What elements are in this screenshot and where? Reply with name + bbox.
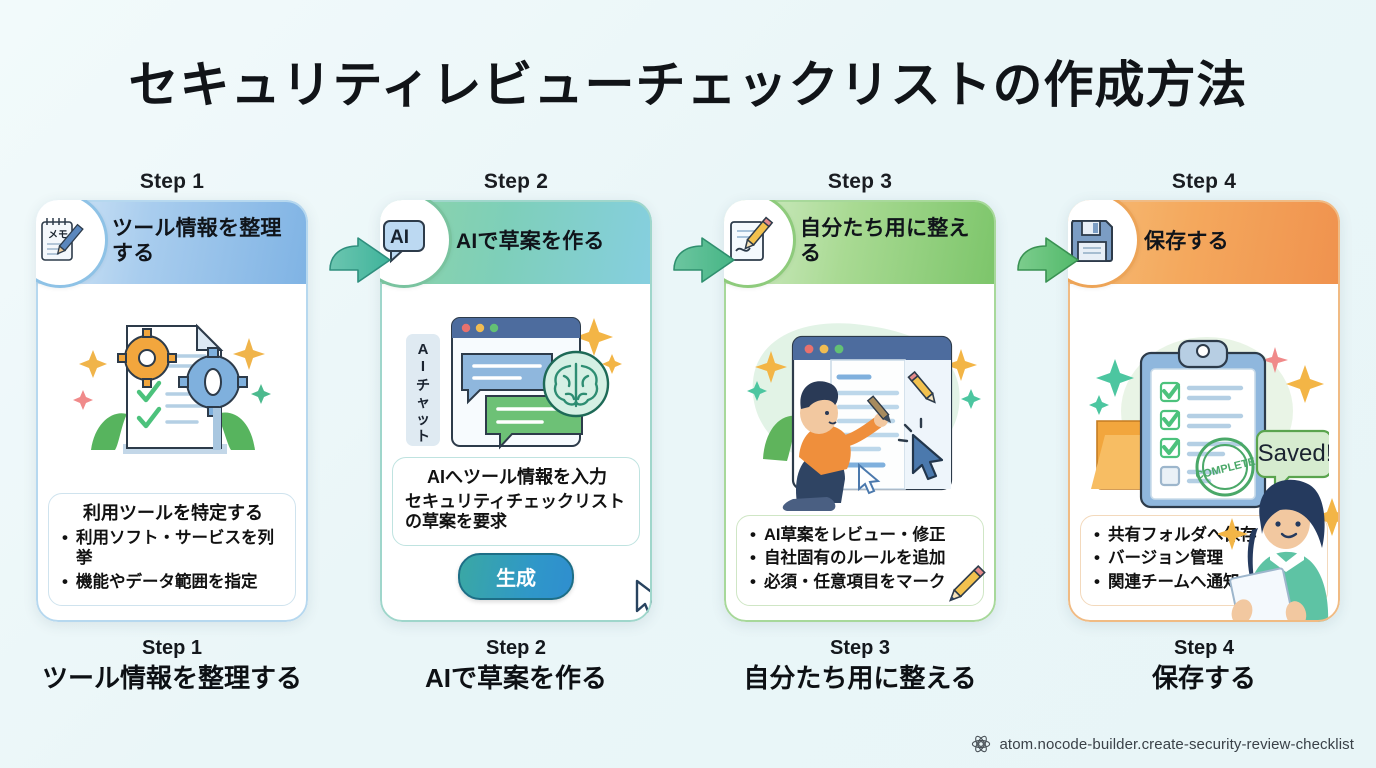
card-header-title-2: AIで草案を作る [456,230,605,255]
step-note-2: AIへツール情報を入力 セキュリティチェックリストの草案を要求 [392,457,640,546]
ai-chat-window-brain-illustration: A I チ ャ ッ ト [380,292,652,468]
note-title-2: AIへツール情報を入力 [405,467,629,489]
step-top-label-3: Step 3 [828,170,892,194]
caption-1: Step 1 ツール情報を整理する [0,636,344,695]
person-editing-document-illustration [724,288,996,518]
step-card-4[interactable]: 保存する [1068,200,1340,622]
svg-text:チ: チ [416,377,430,393]
caption-3: Step 3 自分たち用に整える [688,636,1032,695]
list-item: 機能やデータ範囲を指定 [61,572,285,592]
caption-text-3: 自分たち用に整える [688,662,1032,695]
pencil-icon [935,561,989,615]
caption-text-4: 保存する [1032,662,1376,695]
step-top-label-4: Step 4 [1172,170,1236,194]
caption-2: Step 2 AIで草案を作る [344,636,688,695]
card-header-title-1: ツール情報を整理する [112,217,298,267]
caption-step-2: Step 2 [344,636,688,661]
step-top-label-1: Step 1 [140,170,204,194]
svg-text:A: A [418,341,429,358]
generate-button[interactable]: 生成 [458,553,574,600]
card-header-title-4: 保存する [1144,230,1229,255]
svg-text:I: I [421,358,425,375]
svg-text:ャ: ャ [416,394,430,410]
step-card-slot-1: Step 1 ツール情報を整理する メモ [0,170,344,622]
svg-text:Saved!: Saved! [1258,440,1329,467]
caption-step-3: Step 3 [688,636,1032,661]
svg-text:ッ: ッ [416,411,430,427]
atom-icon [971,734,991,754]
step-top-label-2: Step 2 [484,170,548,194]
footer-text: atom.nocode-builder.create-security-revi… [999,736,1354,753]
connector-arrow-2-3 [672,236,738,292]
step-note-1: 利用ツールを特定する 利用ソフト・サービスを列挙 機能やデータ範囲を指定 [48,493,296,606]
step-card-2[interactable]: AIで草案を作る AI A I チ ャ ッ ト [380,200,652,622]
step-card-1[interactable]: ツール情報を整理する メモ [36,200,308,622]
caption-step-1: Step 1 [0,636,344,661]
note-bullets-1: 利用ソフト・サービスを列挙 機能やデータ範囲を指定 [61,528,285,592]
step-card-slot-4: Step 4 保存する [1032,170,1376,622]
list-item: 利用ソフト・サービスを列挙 [61,528,285,569]
list-item: AI草案をレビュー・修正 [749,525,973,545]
step-card-slot-3: Step 3 自分たち用に整える [688,170,1032,622]
step-note-3: AI草案をレビュー・修正 自社固有のルールを追加 必須・任意項目をマーク [736,515,984,606]
step-card-slot-2: Step 2 AIで草案を作る AI A I チ ャ ッ [344,170,688,622]
generate-button-wrap: 生成 [380,553,652,600]
caption-step-4: Step 4 [1032,636,1376,661]
caption-4: Step 4 保存する [1032,636,1376,695]
person-holding-document-illustration [1218,476,1340,622]
step-captions: Step 1 ツール情報を整理する Step 2 AIで草案を作る Step 3… [0,636,1376,695]
page-title: セキュリティレビューチェックリストの作成方法 [0,0,1376,113]
caption-text-1: ツール情報を整理する [0,662,344,695]
footer: atom.nocode-builder.create-security-revi… [971,734,1354,754]
note-title-1: 利用ツールを特定する [61,503,285,525]
mouse-cursor-icon [632,578,652,620]
caption-text-2: AIで草案を作る [344,662,688,695]
connector-arrow-1-2 [328,236,394,292]
note-sub-2: セキュリティチェックリストの草案を要求 [405,492,629,533]
card-header-title-3: 自分たち用に整える [800,217,986,267]
document-gears-checklist-illustration [36,292,308,468]
connector-arrow-3-4 [1016,236,1082,292]
svg-text:ト: ト [416,428,430,444]
step-card-3[interactable]: 自分たち用に整える [724,200,996,622]
